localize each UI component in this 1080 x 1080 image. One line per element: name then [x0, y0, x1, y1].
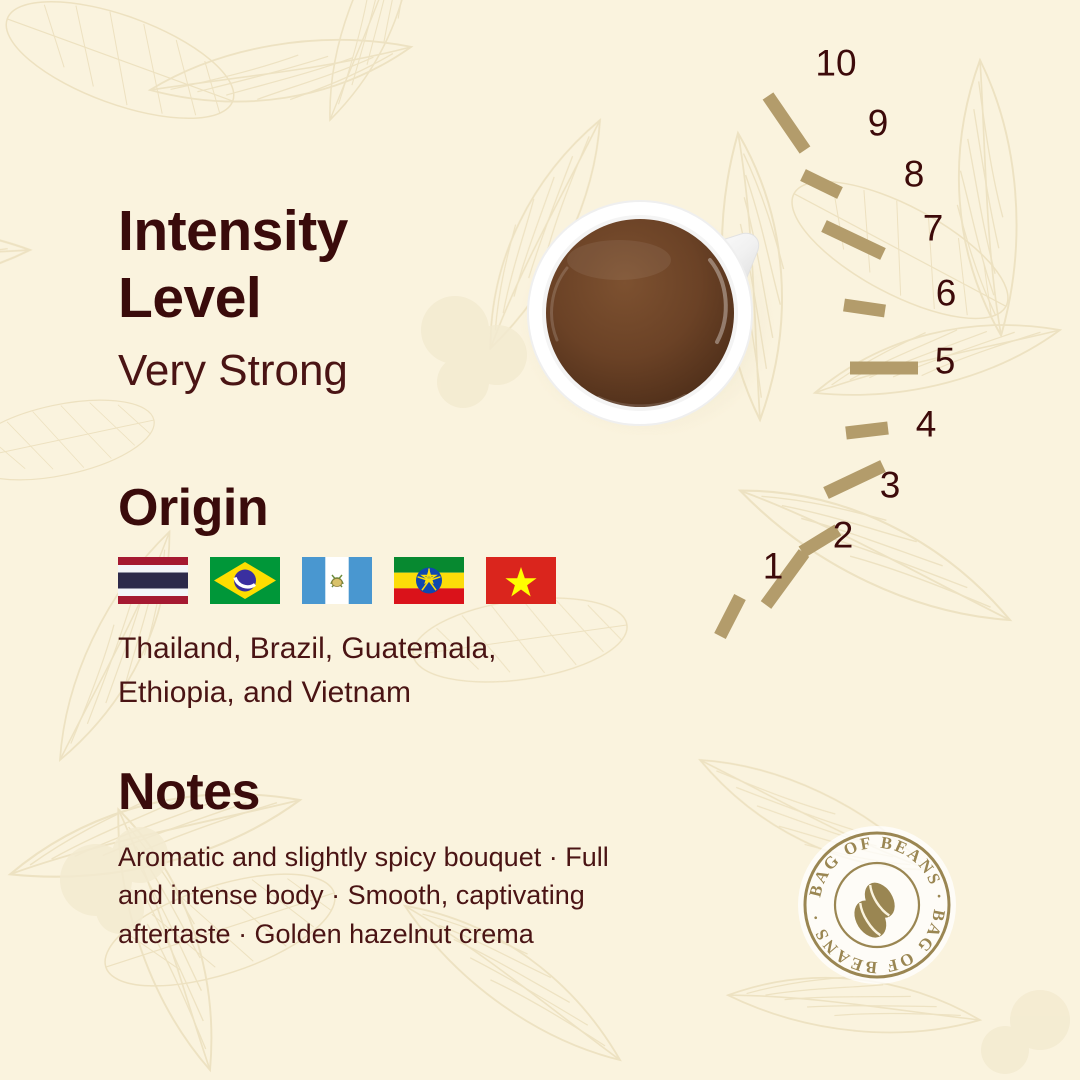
- coffee-product-card: 10 9 8 7 6 5 4 3 2 1 Intensity Level Ver…: [0, 0, 1080, 1080]
- gauge-number-10: 10: [815, 45, 856, 82]
- flag-brazil: [210, 557, 280, 604]
- flag-thailand: [118, 557, 188, 604]
- origin-country-list: Thailand, Brazil, Guatemala, Ethiopia, a…: [118, 627, 588, 714]
- gauge-number-1: 1: [763, 548, 784, 585]
- intensity-level-value: Very Strong: [118, 346, 348, 396]
- flag-ethiopia: [394, 557, 464, 604]
- bag-of-beans-logo: BAG OF BEANS · BAG OF BEANS ·: [797, 825, 957, 985]
- gauge-number-8: 8: [904, 156, 925, 193]
- origin-heading: Origin: [118, 478, 268, 538]
- gauge-number-5: 5: [935, 343, 956, 380]
- gauge-number-4: 4: [916, 406, 937, 443]
- gauge-number-6: 6: [936, 275, 957, 312]
- gauge-number-9: 9: [868, 105, 889, 142]
- intensity-heading-line1: Intensity: [118, 199, 348, 263]
- intensity-heading-line2: Level: [118, 266, 261, 330]
- product-details: Intensity Level Very Strong Origin: [118, 0, 678, 1080]
- notes-heading: Notes: [118, 762, 260, 822]
- intensity-level-heading: Intensity Level: [118, 198, 538, 333]
- notes-description: Aromatic and slightly spicy bouquet · Fu…: [118, 838, 618, 953]
- gauge-number-7: 7: [923, 210, 944, 247]
- gauge-number-3: 3: [880, 467, 901, 504]
- flag-guatemala: [302, 557, 372, 604]
- gauge-number-2: 2: [833, 517, 854, 554]
- flag-vietnam: [486, 557, 556, 604]
- origin-flags: [118, 557, 556, 604]
